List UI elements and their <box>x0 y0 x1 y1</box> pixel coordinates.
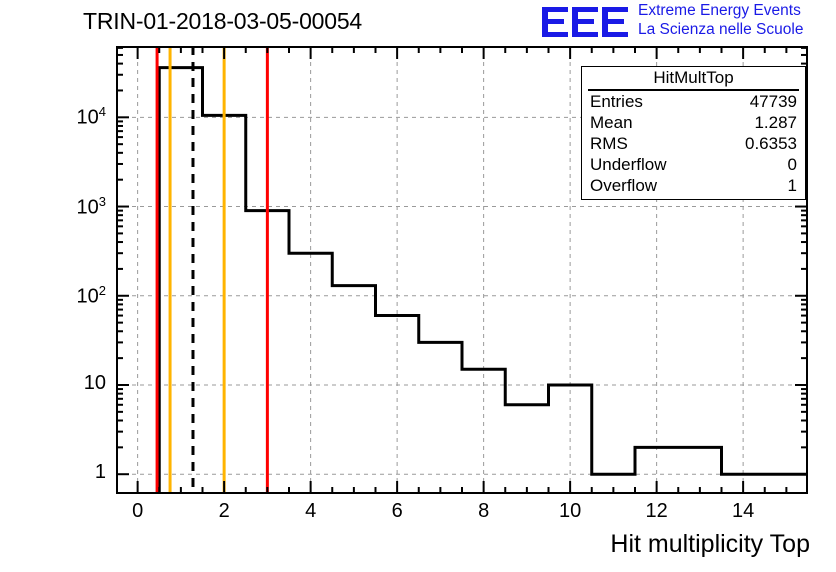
y-tick-label: 102 <box>38 283 106 309</box>
stats-row: Entries47739 <box>582 91 805 112</box>
stats-row-key: Overflow <box>590 175 657 196</box>
x-tick-label: 0 <box>113 500 163 523</box>
x-tick-label: 14 <box>718 500 768 523</box>
stats-row-value: 0 <box>788 154 797 175</box>
stats-row: Overflow1 <box>582 175 805 196</box>
stats-row-value: 0.6353 <box>745 133 797 154</box>
stats-row-value: 1 <box>788 175 797 196</box>
stats-box[interactable]: HitMultTop Entries47739Mean1.287RMS0.635… <box>581 66 806 200</box>
x-tick-label: 8 <box>459 500 509 523</box>
stats-row: RMS0.6353 <box>582 133 805 154</box>
stats-title: HitMultTop <box>588 67 799 91</box>
x-tick-label: 2 <box>199 500 249 523</box>
x-tick-label: 6 <box>372 500 422 523</box>
stats-row-key: Underflow <box>590 154 667 175</box>
y-tick-label: 104 <box>38 104 106 130</box>
x-tick-label: 4 <box>286 500 336 523</box>
stats-row-value: 1.287 <box>754 112 797 133</box>
y-tick-label: 10 <box>38 372 106 395</box>
y-tick-label: 103 <box>38 194 106 220</box>
stats-row: Underflow0 <box>582 154 805 175</box>
stats-row-value: 47739 <box>750 91 797 112</box>
root-canvas: TRIN-01-2018-03-05-00054 Extreme Energy … <box>0 0 836 572</box>
stats-row-key: Entries <box>590 91 643 112</box>
stats-rows: Entries47739Mean1.287RMS0.6353Underflow0… <box>582 91 805 196</box>
stats-row: Mean1.287 <box>582 112 805 133</box>
x-axis-title: Hit multiplicity Top <box>610 530 810 559</box>
y-tick-label: 1 <box>38 461 106 484</box>
stats-row-key: Mean <box>590 112 633 133</box>
stats-row-key: RMS <box>590 133 628 154</box>
x-tick-label: 12 <box>632 500 682 523</box>
x-tick-label: 10 <box>545 500 595 523</box>
